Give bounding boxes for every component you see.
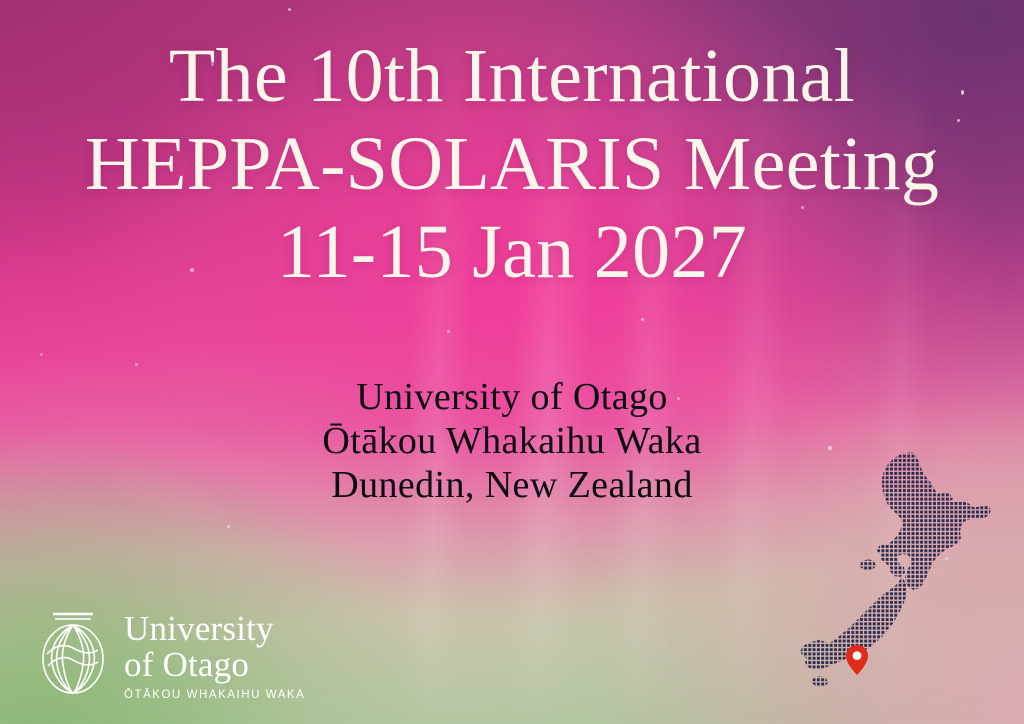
- otago-crest-icon: [36, 607, 110, 699]
- university-of-otago-logo: University of Otago ŌTĀKOU WHAKAIHU WAKA: [36, 607, 305, 703]
- star-speck: [641, 318, 644, 321]
- poster-title: The 10th International HEPPA-SOLARIS Mee…: [0, 32, 1024, 296]
- title-line-1: The 10th International: [0, 32, 1024, 120]
- logo-word-of-otago: of Otago: [124, 647, 305, 683]
- venue-institution: University of Otago: [0, 375, 1024, 419]
- star-speck: [40, 353, 43, 356]
- logo-wordmark: University of Otago ŌTĀKOU WHAKAIHU WAKA: [124, 607, 305, 703]
- title-line-2: HEPPA-SOLARIS Meeting: [0, 120, 1024, 208]
- logo-maori-name: ŌTĀKOU WHAKAIHU WAKA: [124, 683, 305, 703]
- dunedin-location-pin: [846, 645, 868, 675]
- star-speck: [447, 330, 450, 333]
- title-line-3-dates: 11-15 Jan 2027: [0, 208, 1024, 296]
- nz-halftone-fill: [795, 450, 1010, 700]
- new-zealand-map: [795, 450, 1010, 700]
- logo-word-university: University: [124, 611, 305, 647]
- star-speck: [227, 525, 230, 528]
- star-speck: [135, 363, 138, 366]
- conference-poster: The 10th International HEPPA-SOLARIS Mee…: [0, 0, 1024, 724]
- star-speck: [288, 8, 291, 11]
